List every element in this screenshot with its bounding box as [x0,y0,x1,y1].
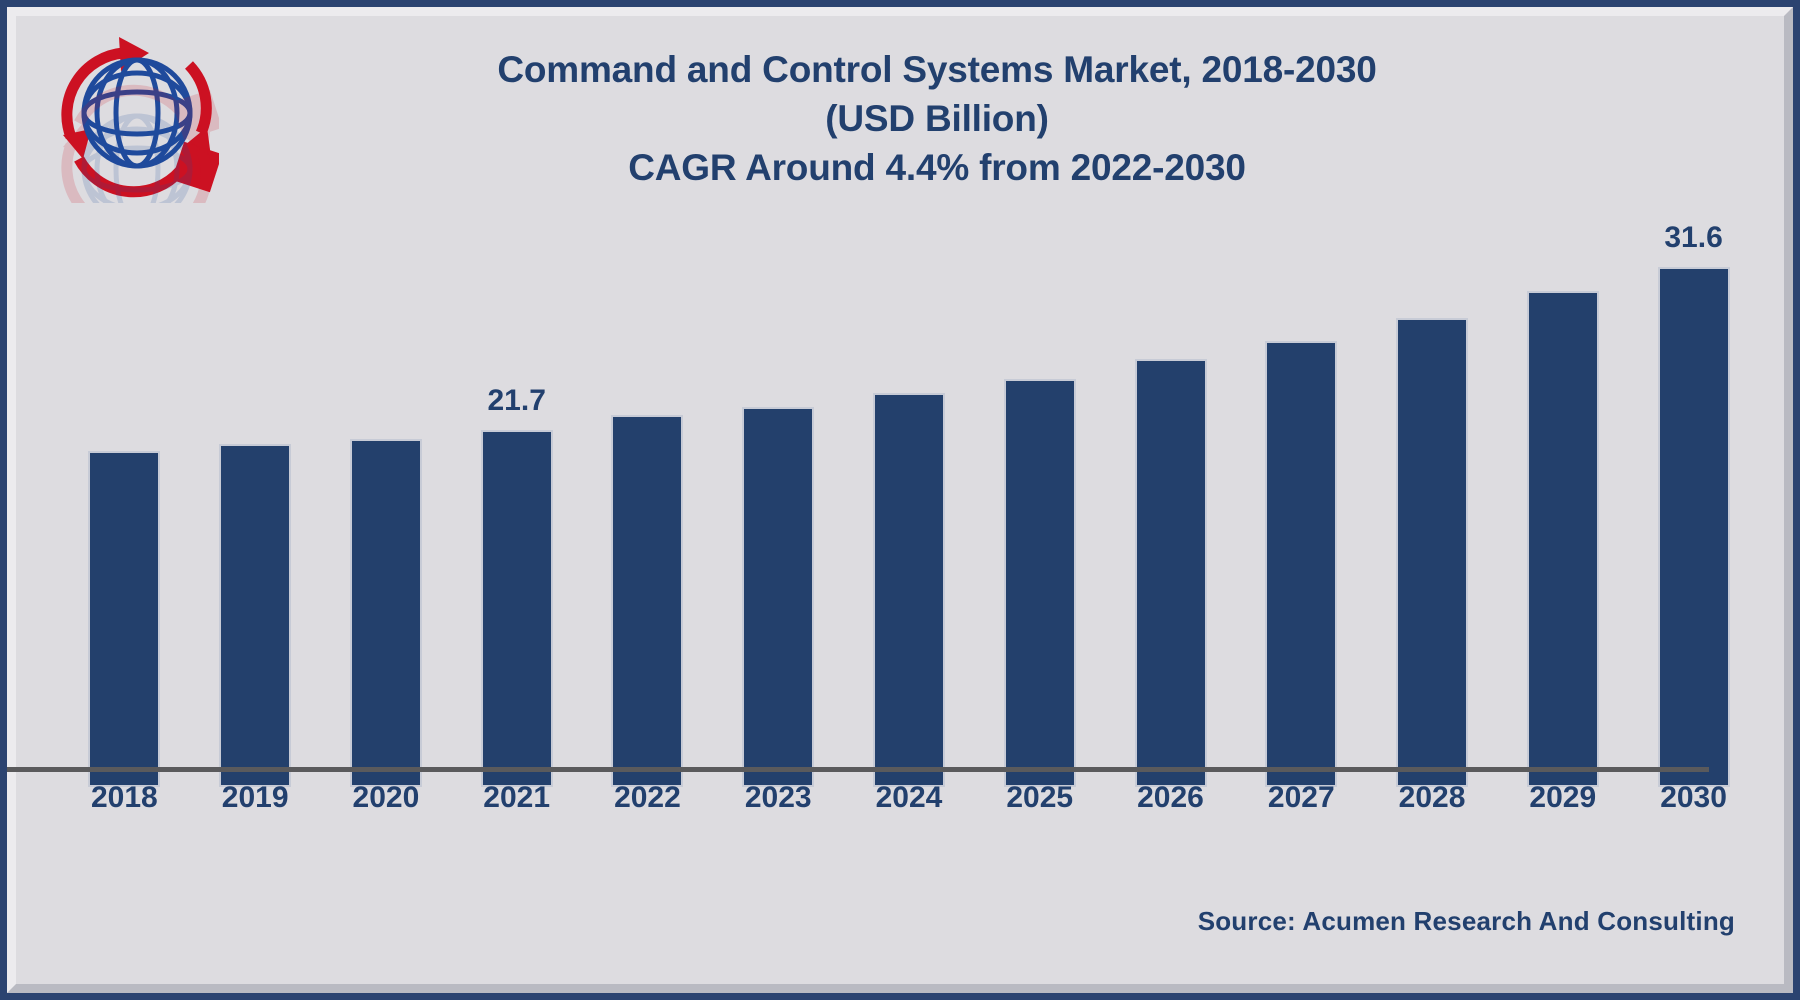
x-axis-label-2023: 2023 [713,781,844,815]
bar-slot [844,227,975,787]
bar [873,393,945,787]
bar-slot [1497,227,1628,787]
x-axis-label-2029: 2029 [1497,781,1628,815]
bar [1004,379,1076,787]
bar-value-label: 21.7 [451,384,582,418]
bar [1658,267,1730,787]
bar-slot [582,227,713,787]
bar-value-label: 31.6 [1628,221,1759,255]
x-axis-label-2028: 2028 [1367,781,1498,815]
globe-icon [49,29,219,199]
bar-series: 21.731.6 [59,227,1759,787]
x-axis-label-2027: 2027 [1236,781,1367,815]
bar [88,451,160,787]
bar-slot [59,227,190,787]
x-axis-tick-labels: 2018201920202021202220232024202520262027… [59,781,1759,815]
x-axis-label-2025: 2025 [974,781,1105,815]
bar-slot [1236,227,1367,787]
bar [611,415,683,787]
x-axis-label-2021: 2021 [451,781,582,815]
x-axis-label-2019: 2019 [190,781,321,815]
x-axis-label-2030: 2030 [1628,781,1759,815]
bar-slot [974,227,1105,787]
bar-slot: 31.6 [1628,227,1759,787]
chart-figure: Command and Control Systems Market, 2018… [0,0,1800,1000]
source-note: Source: Acumen Research And Consulting [1198,906,1735,937]
bar [350,439,422,787]
title-line-2: (USD Billion) [247,94,1627,143]
bar-slot: 21.7 [451,227,582,787]
bar [1527,291,1599,787]
bar-slot [1367,227,1498,787]
bar-slot [190,227,321,787]
x-axis-label-2026: 2026 [1105,781,1236,815]
x-axis-label-2020: 2020 [321,781,452,815]
bar-slot [321,227,452,787]
bar [481,430,553,787]
bar-slot [1105,227,1236,787]
title-line-1: Command and Control Systems Market, 2018… [247,45,1627,94]
x-axis-line [7,767,1709,772]
bar [1135,359,1207,787]
x-axis-label-2024: 2024 [844,781,975,815]
bar [219,444,291,787]
title-line-3: CAGR Around 4.4% from 2022-2030 [247,143,1627,192]
bar [1396,318,1468,787]
plot-area: 21.731.6 [59,207,1759,787]
bar [1265,341,1337,787]
bar [742,407,814,787]
x-axis-label-2018: 2018 [59,781,190,815]
x-axis-label-2022: 2022 [582,781,713,815]
bar-slot [713,227,844,787]
chart-title: Command and Control Systems Market, 2018… [247,45,1627,193]
